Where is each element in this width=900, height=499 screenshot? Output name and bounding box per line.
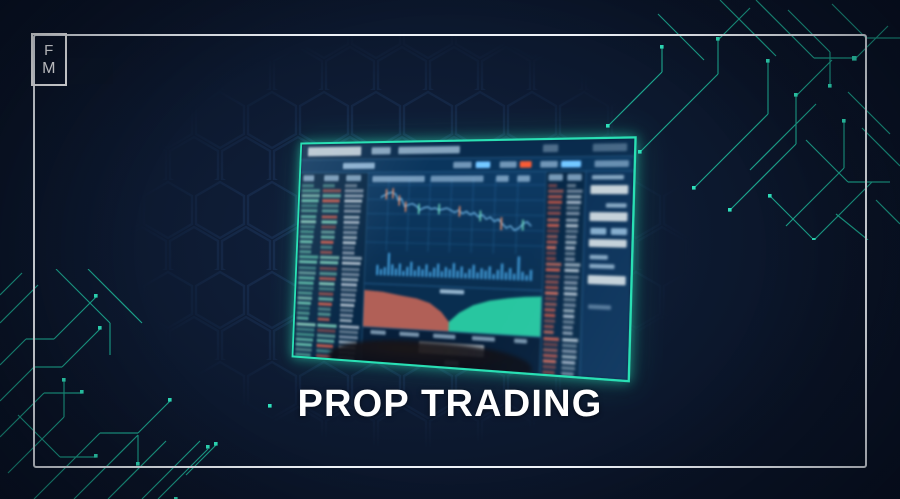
orderbook-cell — [563, 309, 575, 313]
orderbook-cell — [302, 189, 320, 192]
orderbook-cell — [322, 205, 339, 208]
terminal-orderbook-right — [539, 172, 585, 377]
orderbook-cell — [566, 229, 578, 233]
panel-label-3 — [590, 255, 608, 260]
panel-title — [592, 175, 624, 180]
orderbook-cell — [297, 312, 309, 316]
orderbook-cell — [318, 308, 331, 312]
bottom-label-5 — [514, 338, 527, 343]
orderbook-cell — [565, 252, 575, 256]
terminal-topbar-label-1 — [371, 147, 390, 154]
terminal-ticker-value-3 — [561, 161, 581, 168]
terminal-ticker-value-4 — [594, 160, 629, 167]
chart-ohlc-label — [431, 175, 484, 182]
orderbook-cell — [296, 342, 313, 346]
orderbook-cell — [319, 287, 335, 291]
orderbook-cell — [565, 246, 576, 250]
orderbook-cell — [317, 328, 336, 332]
orderbook-cell — [344, 200, 362, 203]
panel-button-2 — [611, 228, 627, 235]
orderbook-cell — [320, 246, 332, 249]
terminal-ticker-label-2 — [500, 161, 517, 168]
orderbook-cell — [543, 353, 557, 357]
orderbook-cell — [341, 293, 356, 297]
orderbook-cell — [298, 276, 314, 280]
orderbook-cell — [339, 335, 357, 339]
orderbook-cell — [563, 326, 573, 330]
terminal-tab-1 — [343, 163, 375, 169]
orderbook-cell — [565, 235, 577, 239]
orderbook-cell — [345, 189, 364, 192]
orderbook-cell — [545, 302, 557, 306]
orderbook-cell — [566, 212, 579, 215]
orderbook-cell — [546, 268, 561, 272]
orderbook-cell — [299, 271, 316, 275]
logo-letter-m: M — [42, 61, 56, 77]
orderbook-cell — [298, 296, 312, 300]
orderbook-cell — [545, 285, 558, 289]
orderbook-cell — [545, 291, 558, 295]
orderbook-cell — [341, 288, 357, 292]
orderbook-cell — [543, 348, 557, 352]
orderbook-cell — [545, 274, 559, 278]
orderbook-cell — [543, 365, 556, 369]
orderbook-cell — [562, 355, 576, 359]
terminal-search-input — [308, 146, 362, 156]
orderbook-cell — [546, 252, 556, 256]
orderbook-cell — [566, 207, 580, 210]
orderbook-cell — [562, 343, 577, 347]
terminal-price-chart — [365, 172, 546, 291]
orderbook-cell — [321, 225, 336, 228]
orderbook-cell — [342, 246, 355, 249]
bottom-label-2 — [399, 332, 419, 337]
orderbook-cell — [564, 280, 578, 284]
panel-label-2 — [606, 203, 627, 208]
orderbook-cell — [566, 218, 579, 222]
orderbook-cell — [548, 184, 557, 187]
orderbook-cell — [301, 220, 316, 223]
panel-input-1 — [590, 185, 628, 194]
orderbook-cell — [299, 261, 317, 265]
orderbook-cell — [319, 282, 335, 286]
orderbook-cell — [319, 271, 336, 275]
trading-terminal-image — [292, 136, 637, 382]
orderbook-cell — [296, 332, 314, 336]
orderbook-cell — [342, 257, 361, 261]
orderbook-cell — [323, 189, 342, 192]
orderbook-cell — [339, 330, 358, 334]
orderbook-cell — [547, 240, 558, 244]
orderbook-cell — [343, 220, 359, 223]
orderbook-cell — [566, 224, 578, 228]
orderbook-cell — [345, 184, 357, 187]
orderbook-cell — [316, 344, 333, 348]
orderbook-cell — [341, 277, 358, 281]
terminal-orderbook-left — [293, 173, 368, 361]
orderbook-cell — [323, 184, 335, 187]
orderbook-cell — [561, 366, 574, 370]
orderbook-header-2 — [324, 175, 339, 181]
orderbook-cell — [302, 199, 319, 202]
orderbook-cell — [563, 315, 574, 319]
orderbook-cell — [299, 266, 317, 270]
orderbook-cell — [564, 286, 578, 290]
orderbook-cell — [320, 261, 338, 265]
hero-image-wrapper — [296, 142, 626, 357]
orderbook-cell — [546, 246, 556, 250]
orderbook-cell — [298, 291, 313, 295]
orderbook-cell — [302, 184, 313, 187]
orderbook-cell — [344, 205, 361, 208]
orderbook-cell — [322, 215, 338, 218]
orderbook-cell — [295, 353, 310, 357]
orderbook-cell — [318, 297, 332, 301]
panel-input-4 — [588, 275, 626, 285]
orderbook-column-3 — [338, 184, 364, 356]
orderbook-cell — [564, 292, 577, 296]
orderbook-cell — [318, 313, 331, 317]
orderbook-cell — [548, 206, 562, 209]
orderbook-cell — [299, 250, 311, 253]
orderbook-cell — [546, 263, 561, 267]
orderbook-cell — [564, 275, 579, 279]
orderbook-cell — [547, 212, 560, 215]
orderbook-cell — [562, 349, 577, 353]
orderbook-cell — [547, 229, 559, 233]
logo-letter-f: F — [44, 43, 54, 58]
orderbook-cell — [298, 286, 313, 290]
orderbook-column-4 — [543, 184, 564, 370]
orderbook-cell — [317, 339, 334, 343]
orderbook-cell — [343, 241, 356, 244]
orderbook-cell — [544, 331, 554, 335]
orderbook-right-header-1 — [548, 174, 562, 181]
orderbook-cell — [322, 210, 338, 213]
orderbook-cell — [562, 332, 572, 336]
orderbook-cell — [565, 263, 580, 267]
orderbook-cell — [543, 359, 557, 363]
orderbook-cell — [547, 218, 560, 221]
orderbook-cell — [318, 318, 330, 322]
orderbook-cell — [343, 236, 357, 239]
orderbook-cell — [299, 255, 318, 259]
orderbook-cell — [544, 319, 555, 323]
orderbook-cell — [543, 342, 558, 346]
orderbook-cell — [563, 303, 575, 307]
orderbook-cell — [567, 184, 576, 187]
terminal-topbar-label-3 — [543, 144, 559, 152]
terminal-side-panel — [579, 171, 633, 379]
panel-label-4 — [589, 264, 614, 269]
orderbook-cell — [301, 215, 317, 218]
orderbook-cell — [567, 190, 582, 193]
orderbook-cell — [340, 304, 354, 308]
orderbook-cell — [320, 266, 338, 270]
orderbook-cell — [544, 314, 555, 318]
orderbook-cell — [295, 348, 311, 352]
bottom-label-1 — [370, 330, 386, 335]
orderbook-cell — [542, 370, 555, 374]
orderbook-cell — [321, 241, 334, 244]
orderbook-cell — [317, 333, 335, 337]
orderbook-cell — [544, 308, 556, 312]
orderbook-cell — [344, 210, 361, 213]
orderbook-cell — [344, 195, 363, 198]
orderbook-cell — [544, 325, 554, 329]
orderbook-cell — [321, 230, 335, 233]
orderbook-cell — [340, 309, 353, 313]
terminal-topbar-label-4 — [593, 143, 628, 151]
orderbook-cell — [343, 226, 358, 229]
panel-input-3 — [589, 239, 627, 248]
orderbook-cell — [296, 322, 315, 326]
orderbook-cell — [544, 336, 559, 340]
orderbook-cell — [320, 256, 339, 260]
fm-logo: F M — [31, 33, 67, 86]
orderbook-cell — [564, 297, 577, 301]
panel-footer-label — [588, 304, 611, 310]
orderbook-right-header-2 — [567, 174, 582, 181]
orderbook-cell — [300, 235, 313, 238]
orderbook-cell — [547, 235, 558, 239]
orderbook-cell — [297, 317, 309, 321]
orderbook-cell — [300, 230, 314, 233]
orderbook-cell — [561, 372, 574, 376]
orderbook-cell — [318, 302, 332, 306]
orderbook-cell — [567, 195, 582, 198]
orderbook-cell — [545, 280, 559, 284]
orderbook-cell — [300, 240, 313, 243]
terminal-ticker-label-1 — [453, 162, 472, 169]
orderbook-cell — [322, 194, 340, 197]
orderbook-cell — [301, 210, 317, 213]
orderbook-cell — [546, 257, 555, 261]
orderbook-cell — [565, 258, 575, 262]
orderbook-cell — [300, 225, 314, 228]
orderbook-header-3 — [346, 175, 361, 181]
terminal-ticker-value-2 — [520, 161, 532, 168]
orderbook-cell — [342, 262, 361, 266]
orderbook-cell — [300, 245, 312, 248]
orderbook-cell — [564, 269, 579, 273]
orderbook-cell — [296, 337, 313, 341]
orderbook-cell — [321, 220, 336, 223]
bottom-label-4 — [472, 336, 495, 342]
orderbook-cell — [563, 320, 574, 324]
orderbook-cell — [344, 215, 360, 218]
orderbook-cell — [320, 251, 332, 254]
orderbook-cell — [339, 324, 359, 328]
orderbook-cell — [301, 205, 318, 208]
bottom-label-3 — [433, 334, 455, 340]
orderbook-cell — [296, 327, 314, 331]
orderbook-cell — [340, 298, 355, 302]
orderbook-header-1 — [303, 175, 314, 181]
terminal-screen — [293, 139, 634, 380]
orderbook-cell — [340, 314, 353, 318]
orderbook-cell — [340, 319, 352, 323]
orderbook-cell — [322, 200, 340, 203]
chart-symbol-label — [372, 176, 425, 182]
orderbook-cell — [298, 281, 314, 285]
orderbook-cell — [562, 337, 578, 341]
panel-button-1 — [590, 228, 606, 235]
orderbook-cell — [342, 252, 354, 255]
orderbook-cell — [319, 277, 336, 281]
orderbook-cell — [317, 323, 336, 327]
terminal-topbar-label-2 — [398, 146, 460, 154]
orderbook-cell — [548, 190, 563, 193]
orderbook-cell — [321, 235, 335, 238]
chart-legend-2 — [517, 175, 530, 182]
terminal-ticker-label-3 — [540, 161, 558, 168]
orderbook-cell — [319, 292, 334, 296]
orderbook-cell — [343, 231, 357, 234]
orderbook-cell — [342, 267, 360, 271]
page-title: PROP TRADING — [0, 383, 900, 426]
chart-legend-1 — [496, 175, 509, 182]
orderbook-cell — [566, 201, 580, 204]
orderbook-cell — [341, 283, 357, 287]
orderbook-cell — [341, 272, 359, 276]
terminal-ticker-value-1 — [476, 161, 491, 168]
orderbook-cell — [548, 201, 562, 204]
orderbook-cell — [548, 195, 563, 198]
orderbook-cell — [302, 194, 320, 197]
orderbook-cell — [545, 297, 557, 301]
panel-input-2 — [590, 212, 628, 221]
orderbook-cell — [565, 241, 576, 245]
promo-banner: F M — [0, 0, 900, 499]
orderbook-cell — [547, 223, 559, 227]
orderbook-cell — [562, 360, 576, 364]
orderbook-cell — [297, 301, 311, 305]
orderbook-cell — [297, 307, 310, 311]
